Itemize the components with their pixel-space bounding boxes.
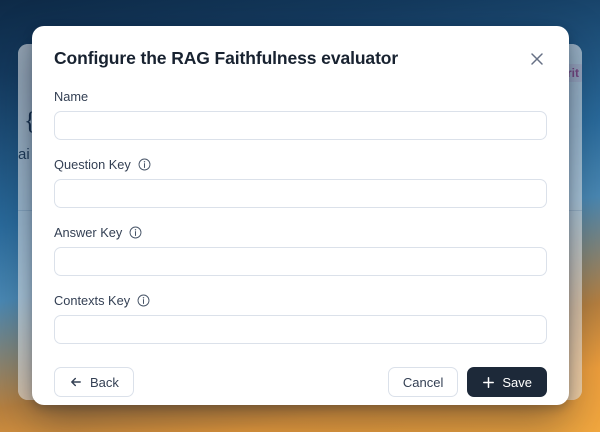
field-label-row-answer-key: Answer Key [54, 225, 547, 240]
page-background: {· ai rit Configure the RAG Faithfulness… [0, 0, 600, 432]
info-icon[interactable] [129, 226, 142, 239]
field-label-answer-key: Answer Key [54, 225, 122, 240]
field-contexts-key: Contexts Key [54, 293, 547, 344]
cancel-button[interactable]: Cancel [388, 367, 458, 397]
name-input[interactable] [54, 111, 547, 140]
field-label-contexts-key: Contexts Key [54, 293, 130, 308]
question-key-input[interactable] [54, 179, 547, 208]
modal-header: Configure the RAG Faithfulness evaluator [54, 48, 547, 69]
save-button[interactable]: Save [467, 367, 547, 397]
background-partial-text: ai [18, 146, 30, 163]
back-button[interactable]: Back [54, 367, 134, 397]
field-label-question-key: Question Key [54, 157, 131, 172]
save-button-label: Save [502, 375, 532, 390]
field-label-row-name: Name [54, 89, 547, 104]
configure-evaluator-modal: Configure the RAG Faithfulness evaluator… [32, 26, 569, 405]
field-label-row-contexts-key: Contexts Key [54, 293, 547, 308]
modal-footer: Back Cancel Save [54, 361, 547, 419]
info-icon[interactable] [138, 158, 151, 171]
plus-icon [482, 376, 495, 389]
field-name: Name [54, 89, 547, 140]
answer-key-input[interactable] [54, 247, 547, 276]
footer-actions: Cancel Save [388, 367, 547, 397]
info-icon[interactable] [137, 294, 150, 307]
field-label-row-question-key: Question Key [54, 157, 547, 172]
field-question-key: Question Key [54, 157, 547, 208]
cancel-button-label: Cancel [403, 375, 443, 390]
evaluator-form: Name Question Key Answer Key [54, 89, 547, 361]
field-answer-key: Answer Key [54, 225, 547, 276]
close-icon[interactable] [527, 49, 547, 69]
arrow-left-icon [69, 375, 83, 389]
contexts-key-input[interactable] [54, 315, 547, 344]
field-label-name: Name [54, 89, 88, 104]
modal-title: Configure the RAG Faithfulness evaluator [54, 48, 398, 69]
back-button-label: Back [90, 375, 119, 390]
